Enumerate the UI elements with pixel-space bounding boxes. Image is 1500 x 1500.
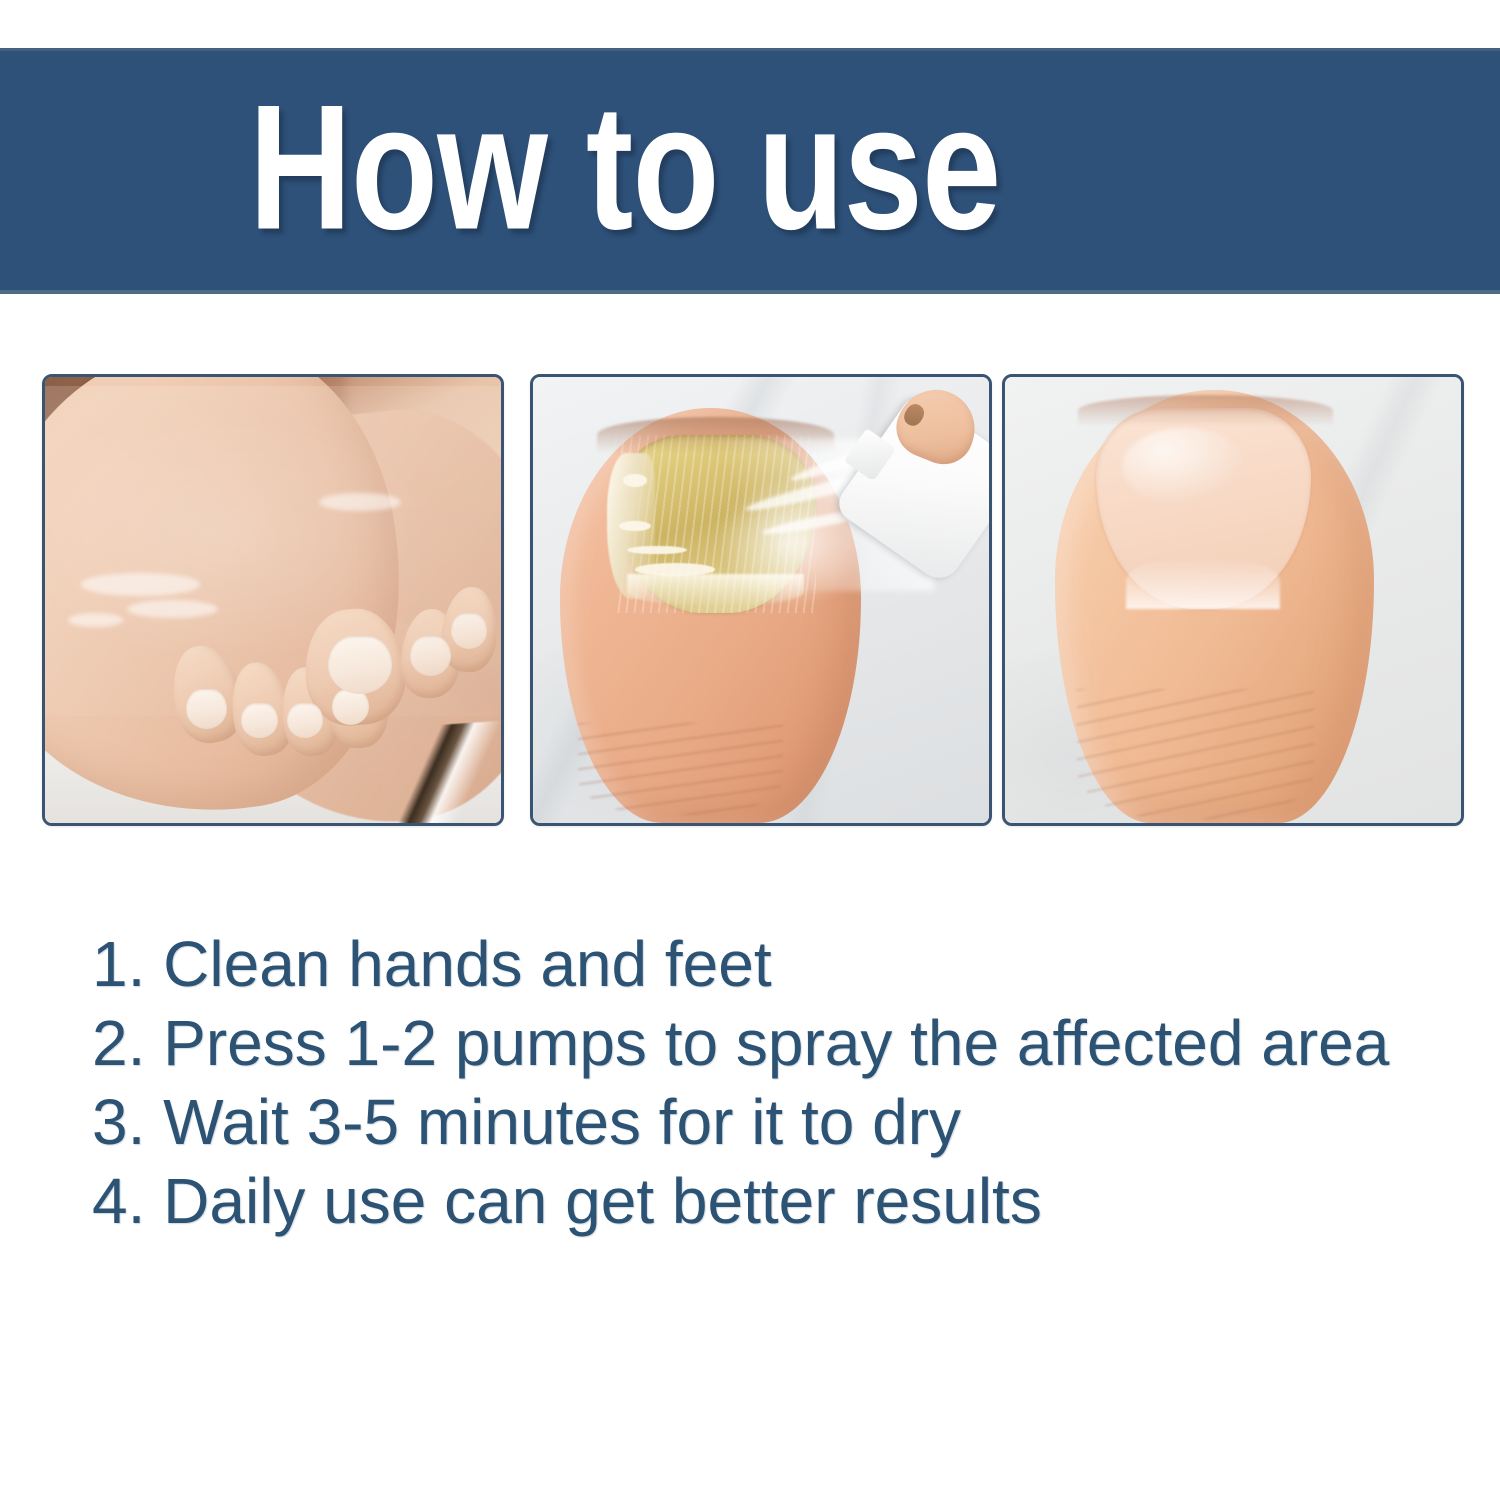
toenail bbox=[410, 636, 451, 676]
feet-soaking-photo bbox=[42, 374, 504, 826]
step-number: 4. bbox=[92, 1165, 145, 1237]
photo-panel-row bbox=[42, 374, 1464, 826]
step-text: Press 1-2 pumps to spray the affected ar… bbox=[163, 1007, 1389, 1079]
step-text: Daily use can get better results bbox=[163, 1165, 1042, 1237]
toe-creases bbox=[578, 723, 783, 814]
nail-free-edge bbox=[1126, 557, 1280, 609]
page-title-text: How to use bbox=[249, 78, 1001, 256]
toenail bbox=[241, 703, 277, 739]
how-to-use-infographic: How to use bbox=[0, 0, 1500, 1500]
instruction-step-3: 3. Wait 3-5 minutes for it to dry bbox=[92, 1083, 1422, 1162]
water-highlight bbox=[127, 600, 218, 618]
spraying-infected-toenail-photo bbox=[530, 374, 992, 826]
toenail bbox=[332, 689, 368, 725]
step-text: Clean hands and feet bbox=[163, 928, 771, 1000]
floor-tile-edge bbox=[370, 720, 501, 823]
nail-gloss-highlight bbox=[1122, 428, 1246, 504]
spraying-photo-content bbox=[533, 377, 989, 823]
toenail bbox=[451, 613, 487, 649]
page-title: How to use bbox=[0, 78, 1500, 256]
toenail bbox=[287, 703, 323, 739]
step-number: 1. bbox=[92, 928, 145, 1000]
step-number: 3. bbox=[92, 1086, 145, 1158]
instruction-list: 1. Clean hands and feet 2. Press 1-2 pum… bbox=[92, 925, 1422, 1241]
water-highlight bbox=[319, 493, 401, 511]
cuticle bbox=[1078, 395, 1333, 426]
nail-flake bbox=[635, 563, 715, 575]
water-highlight bbox=[81, 573, 200, 595]
instruction-step-1: 1. Clean hands and feet bbox=[92, 925, 1422, 1004]
step-number: 2. bbox=[92, 1007, 145, 1079]
instruction-step-4: 4. Daily use can get better results bbox=[92, 1162, 1422, 1241]
healthy-toenail bbox=[1096, 408, 1310, 609]
toe-creases bbox=[1077, 689, 1313, 819]
healthy-toenail-photo-content bbox=[1005, 377, 1461, 823]
feet-soaking-photo-content bbox=[45, 377, 501, 823]
header-banner: How to use bbox=[0, 48, 1500, 294]
big-toenail bbox=[328, 636, 392, 694]
instruction-step-2: 2. Press 1-2 pumps to spray the affected… bbox=[92, 1004, 1422, 1083]
water-highlight bbox=[68, 613, 123, 626]
nail-flake bbox=[623, 474, 647, 486]
step-text: Wait 3-5 minutes for it to dry bbox=[163, 1086, 961, 1158]
healthy-toenail-photo bbox=[1002, 374, 1464, 826]
